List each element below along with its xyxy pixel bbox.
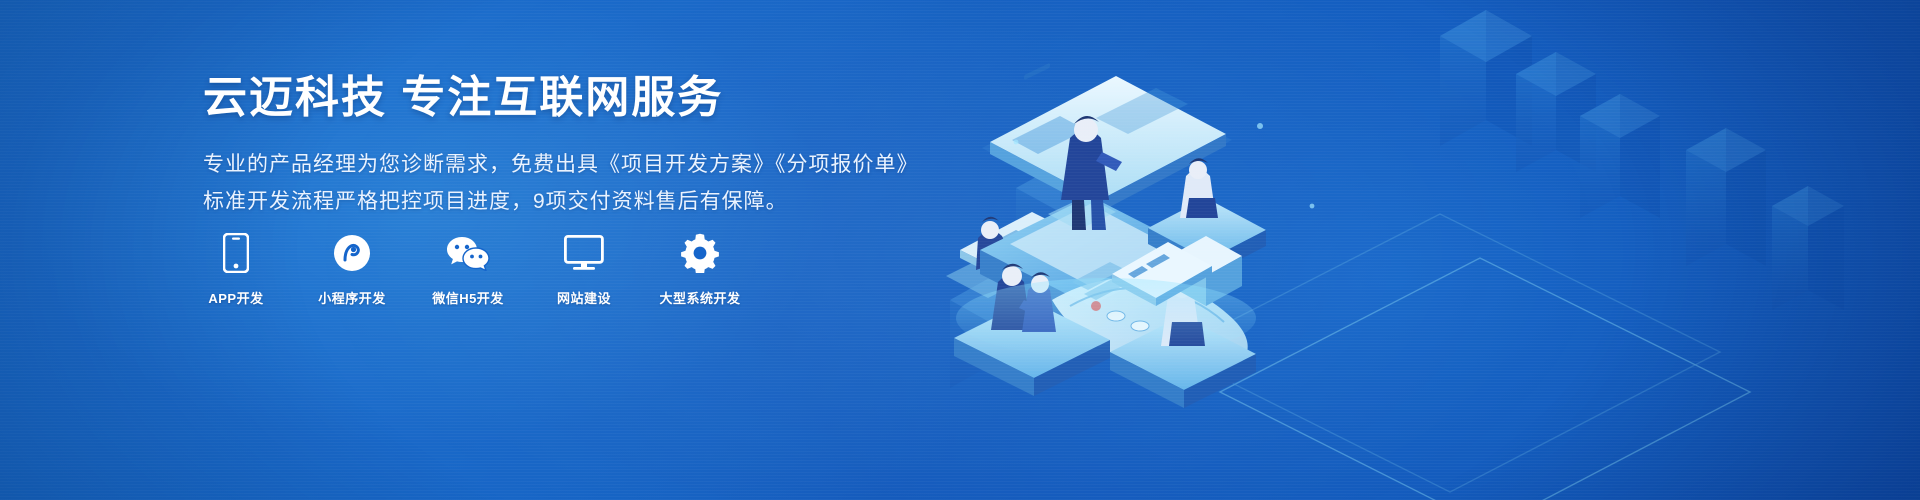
hero-copy: 云迈科技 专注互联网服务 专业的产品经理为您诊断需求，免费出具《项目开发方案》《… [203,72,963,220]
monitor-icon [564,232,604,274]
platform-wireframe [1170,214,1750,500]
service-item-website[interactable]: 网站建设 [548,232,620,307]
service-item-mini-program[interactable]: 小程序开发 [316,232,388,307]
service-item-app[interactable]: APP开发 [200,232,272,307]
illustration-panel [920,0,1920,500]
service-label: 微信H5开发 [432,288,504,307]
subtitle-line-2: 标准开发流程严格把控项目进度，9项交付资料售后有保障。 [203,183,963,220]
service-list: APP开发 小程序开发 [200,232,736,307]
hero-banner: 云迈科技 专注互联网服务 专业的产品经理为您诊断需求，免费出具《项目开发方案》《… [0,0,1920,500]
page-title: 云迈科技 专注互联网服务 [203,72,963,124]
service-item-wechat-h5[interactable]: 微信H5开发 [432,232,504,307]
isometric-tech-illustration [920,0,1920,500]
service-label: 大型系统开发 [660,288,741,307]
mobile-phone-icon [223,232,249,274]
service-label: 小程序开发 [318,288,386,307]
figure-upper-right [1180,158,1218,218]
service-item-large-system[interactable]: 大型系统开发 [664,232,736,307]
service-label: 网站建设 [557,288,611,307]
wechat-icon [446,232,490,274]
gear-icon [680,232,720,274]
mini-program-icon [333,232,371,274]
subtitle-line-1: 专业的产品经理为您诊断需求，免费出具《项目开发方案》《分项报价单》 [203,146,963,183]
service-label: APP开发 [208,288,263,307]
